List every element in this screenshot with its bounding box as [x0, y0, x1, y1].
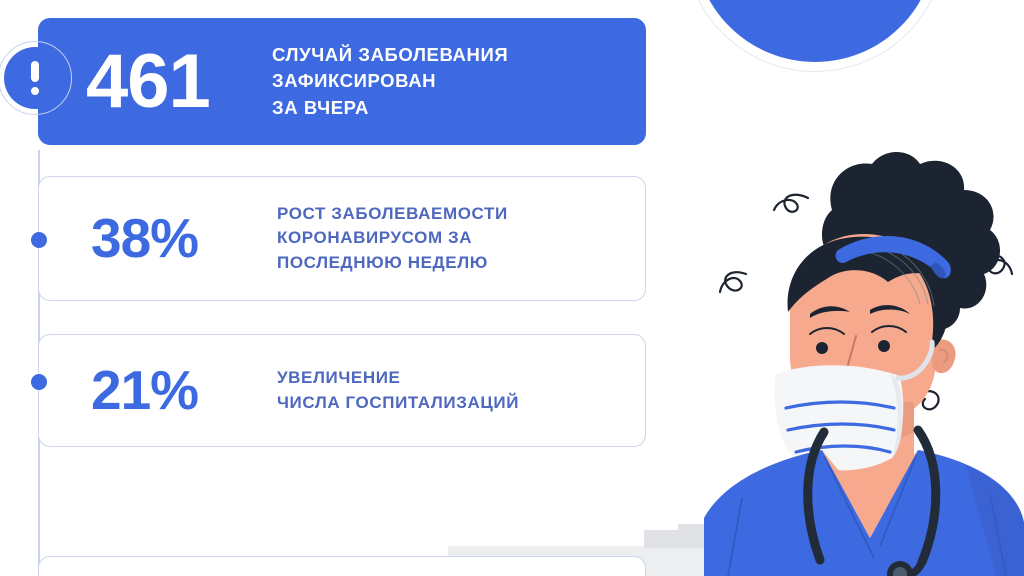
- exclamation-dot: [31, 87, 39, 95]
- stat-card-1-description: СЛУЧАЙ ЗАБОЛЕВАНИЯ ЗАФИКСИРОВАН ЗА ВЧЕРА: [272, 42, 508, 121]
- exclamation-glyph: [31, 61, 39, 95]
- exclamation-stem: [31, 61, 39, 82]
- timeline-dot-1: [31, 232, 47, 248]
- stat-card-2-description: РОСТ ЗАБОЛЕВАЕМОСТИ КОРОНАВИРУСОМ ЗА ПОС…: [277, 202, 508, 274]
- stat-card-2-number: 38%: [91, 211, 277, 266]
- stat-card-1: 461 СЛУЧАЙ ЗАБОЛЕВАНИЯ ЗАФИКСИРОВАН ЗА В…: [38, 18, 646, 145]
- stat-card-2: 38% РОСТ ЗАБОЛЕВАЕМОСТИ КОРОНАВИРУСОМ ЗА…: [38, 176, 646, 301]
- exclamation-icon: [4, 47, 66, 109]
- stat-card-3-number: 21%: [91, 363, 277, 418]
- hospital-block-top: [678, 524, 706, 534]
- stat-card-3-description: УВЕЛИЧЕНИЕ ЧИСЛА ГОСПИТАЛИЗАЦИЙ: [277, 366, 519, 414]
- timeline-dot-2: [31, 374, 47, 390]
- stat-card-1-number: 461: [86, 44, 272, 120]
- stat-card-4-partial: [38, 556, 646, 576]
- stat-card-3: 21% УВЕЛИЧЕНИЕ ЧИСЛА ГОСПИТАЛИЗАЦИЙ: [38, 334, 646, 447]
- doctor-in-mask: [704, 146, 1024, 576]
